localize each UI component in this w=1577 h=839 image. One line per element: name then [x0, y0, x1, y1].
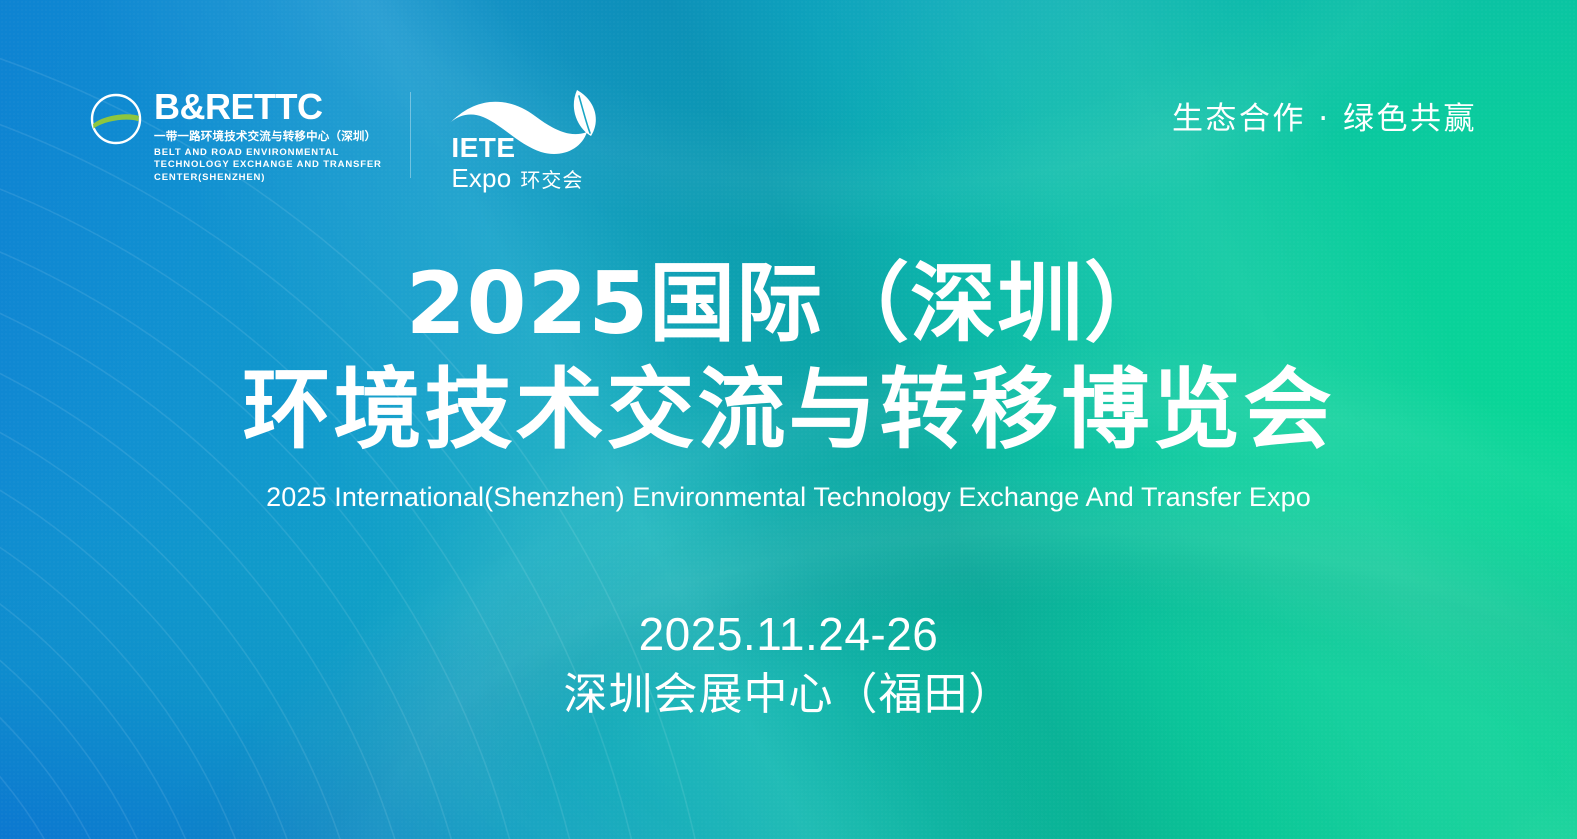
title-line-1: 2025国际（深圳）: [0, 258, 1577, 351]
iete-wordmark: IETE Expo 环交会: [451, 134, 583, 191]
brettc-subtitle-cn: 一带一路环境技术交流与转移中心（深圳）: [154, 129, 376, 145]
logo-group: B&RETTC 一带一路环境技术交流与转移中心（深圳） BELT AND ROA…: [88, 88, 609, 188]
subtitle-english: 2025 International(Shenzhen) Environment…: [0, 481, 1577, 513]
brettc-text-block: B&RETTC 一带一路环境技术交流与转移中心（深圳） BELT AND ROA…: [154, 88, 376, 184]
iete-line-top: IETE: [451, 134, 583, 162]
main-title-block: 2025国际（深圳） 环境技术交流与转移博览会 2025 Internation…: [0, 258, 1577, 514]
title-line-2: 环境技术交流与转移博览会: [0, 361, 1577, 460]
logo-divider: [410, 92, 411, 178]
iete-line-bottom: Expo 环交会: [451, 165, 583, 191]
banner-content: B&RETTC 一带一路环境技术交流与转移中心（深圳） BELT AND ROA…: [0, 0, 1577, 839]
logo-brettc[interactable]: B&RETTC 一带一路环境技术交流与转移中心（深圳） BELT AND ROA…: [88, 88, 376, 184]
event-venue: 深圳会展中心（福田）: [0, 669, 1577, 722]
expo-banner: B&RETTC 一带一路环境技术交流与转移中心（深圳） BELT AND ROA…: [0, 0, 1577, 839]
brettc-subtitle-en-line-1: BELT AND ROAD ENVIRONMENTAL: [154, 147, 360, 160]
brettc-title: B&RETTC: [154, 89, 376, 125]
globe-ellipse-icon: [88, 91, 144, 147]
event-date: 2025.11.24-26: [0, 608, 1577, 661]
brettc-subtitle-en-line-2: TECHNOLOGY EXCHANGE AND TRANSFER: [154, 159, 360, 172]
logo-iete-expo[interactable]: IETE Expo 环交会: [449, 88, 609, 188]
iete-expo-label: Expo: [451, 165, 511, 191]
brettc-subtitle-en: BELT AND ROAD ENVIRONMENTAL TECHNOLOGY E…: [154, 147, 360, 185]
header-slogan: 生态合作 · 绿色共赢: [1172, 104, 1477, 135]
brettc-subtitle-en-line-3: CENTER(SHENZHEN): [154, 172, 360, 185]
event-info-block: 2025.11.24-26 深圳会展中心（福田）: [0, 608, 1577, 722]
iete-cn-label: 环交会: [520, 170, 583, 190]
